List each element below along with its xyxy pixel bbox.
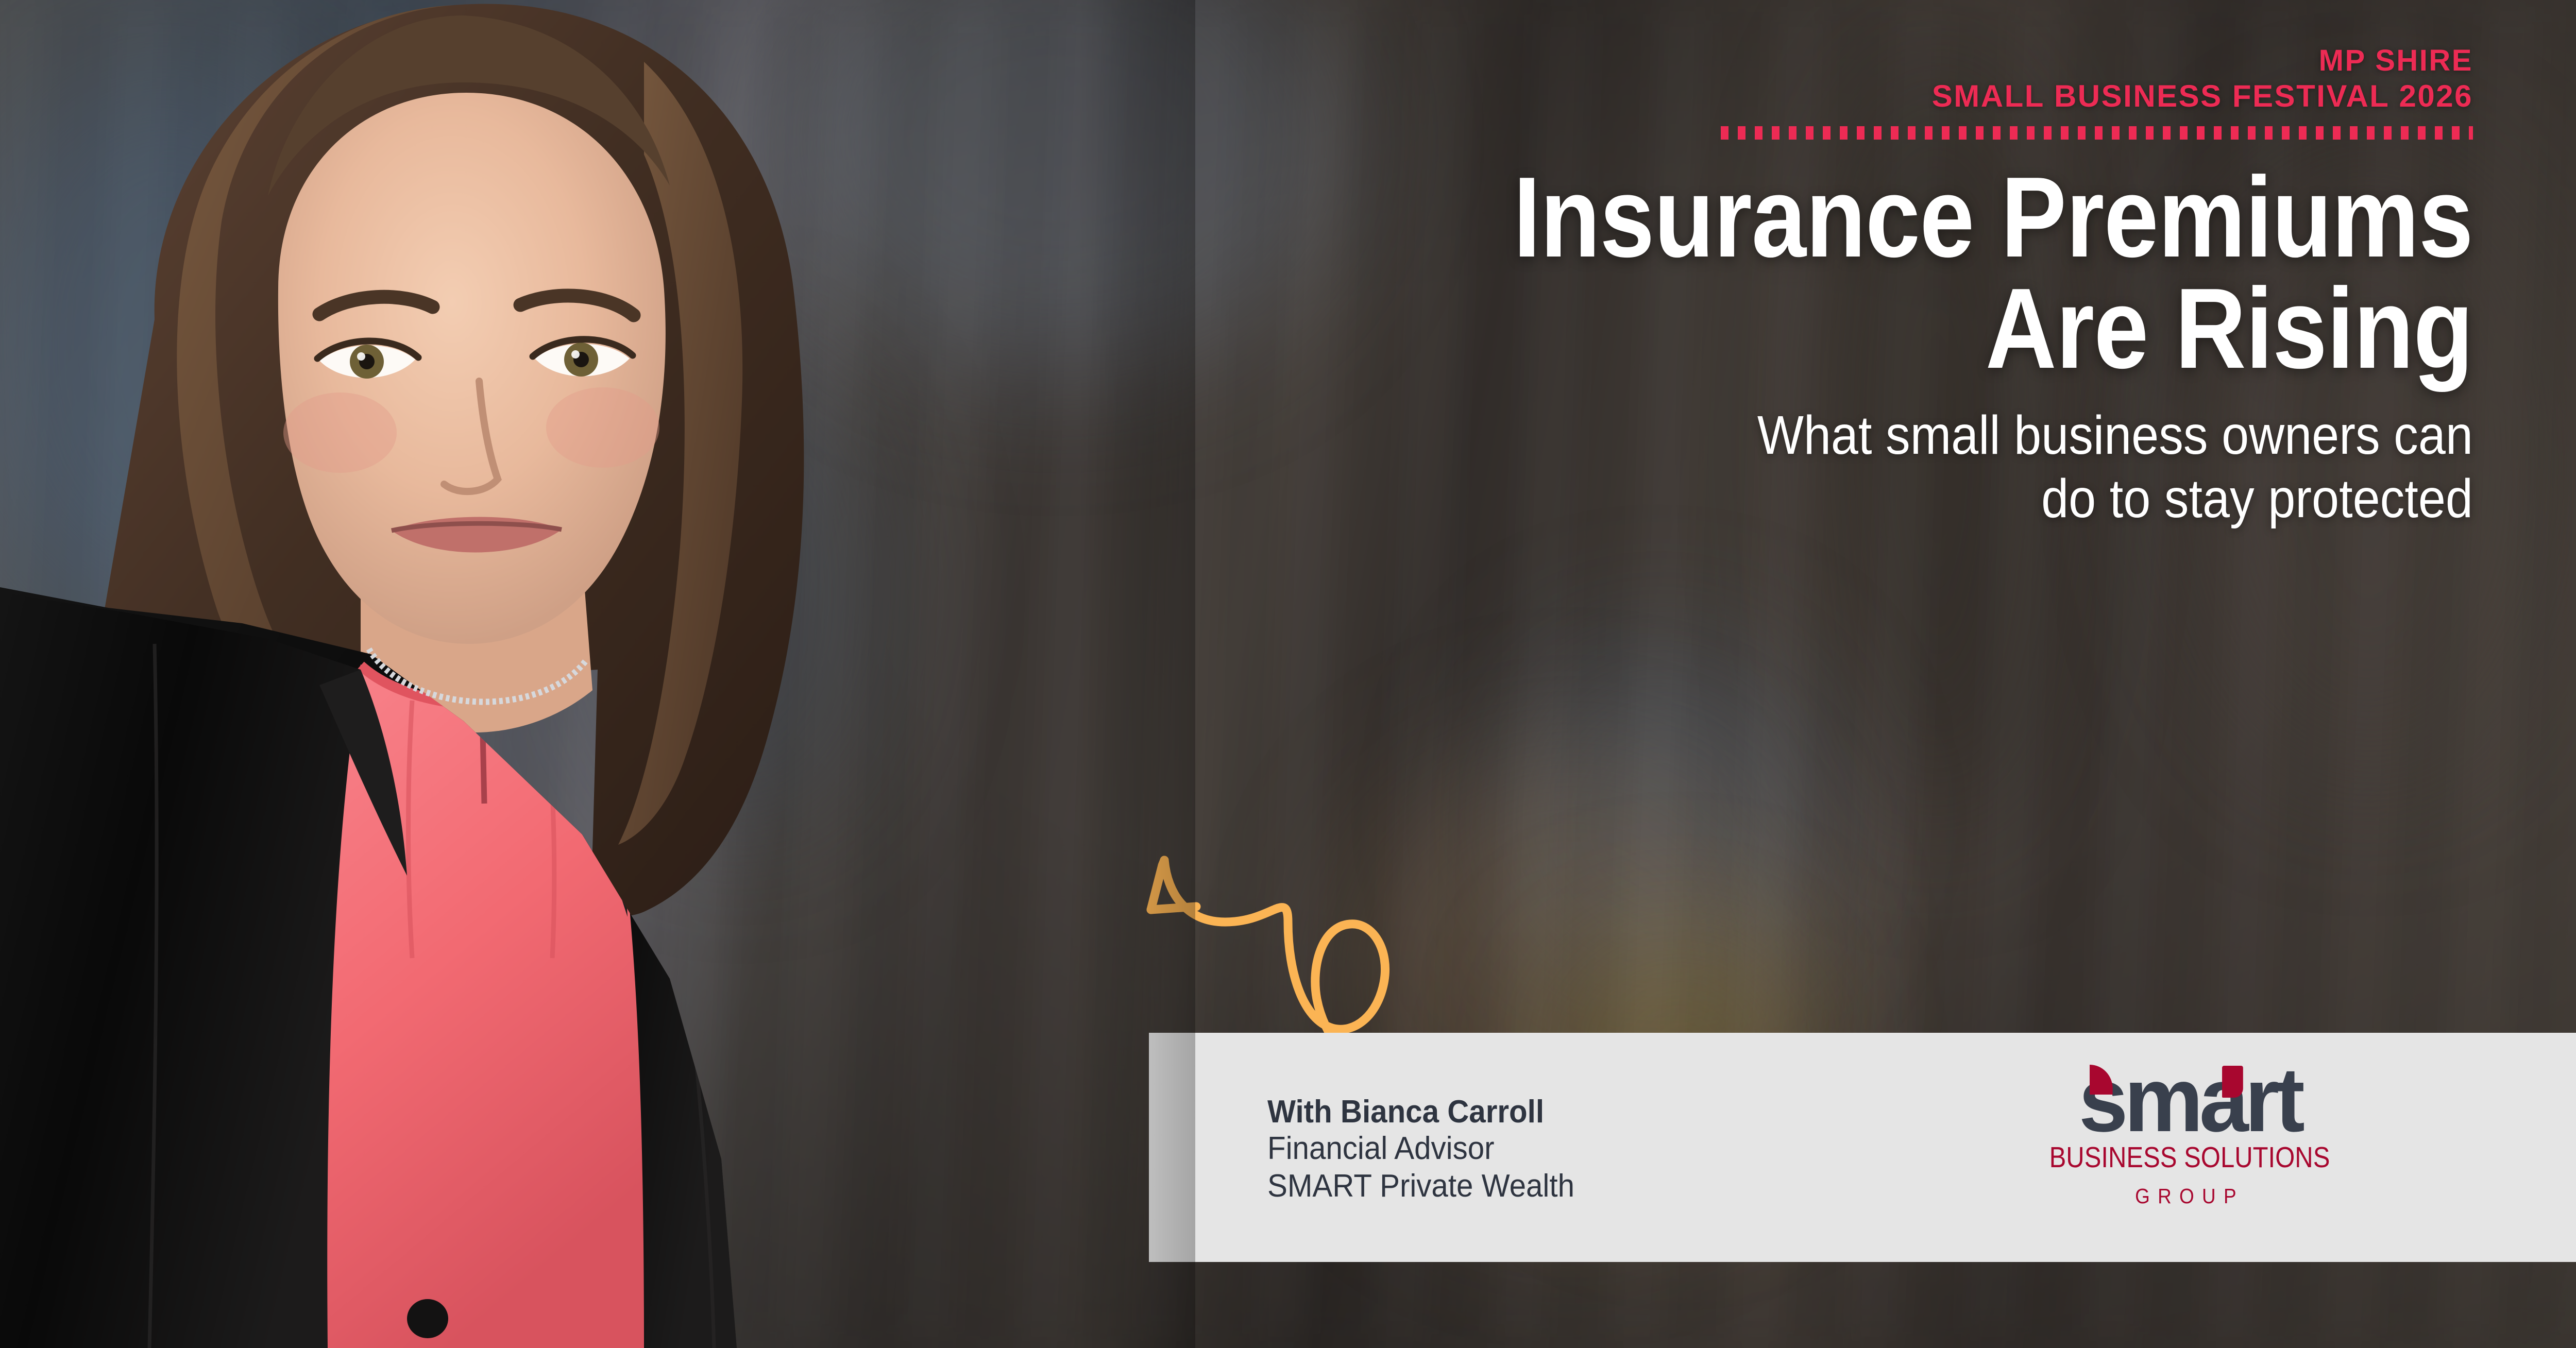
subheadline: What small business owners can do to sta… bbox=[1082, 404, 2473, 531]
portrait-edge-blend bbox=[608, 0, 1195, 1348]
speaker-name: With Bianca Carroll bbox=[1267, 1095, 1574, 1130]
headline-line2: Are Rising bbox=[1144, 274, 2473, 384]
logo-accent-wedge-r-icon bbox=[2222, 1066, 2243, 1098]
blazer-button bbox=[407, 1299, 448, 1338]
subheadline-line2: do to stay protected bbox=[1082, 467, 2473, 531]
promotional-banner: MP SHIRE SMALL BUSINESS FESTIVAL 2026 In… bbox=[0, 0, 2576, 1348]
blazer-left-panel bbox=[0, 592, 361, 1348]
speaker-credit: With Bianca Carroll Financial Advisor SM… bbox=[1267, 1095, 1594, 1205]
speaker-role: Financial Advisor bbox=[1267, 1130, 1574, 1167]
cheek-left bbox=[283, 393, 397, 473]
dotted-divider bbox=[1721, 126, 2473, 140]
headline-line1: Insurance Premiums bbox=[1144, 162, 2473, 273]
smart-business-solutions-logo: smart BUSINESS SOLUTIONS GROUP bbox=[2009, 1059, 2370, 1207]
logo-wordmark: smart bbox=[2078, 1059, 2300, 1141]
headline: Insurance Premiums Are Rising bbox=[1144, 162, 2473, 384]
speaker-firm: SMART Private Wealth bbox=[1267, 1167, 1574, 1205]
logo-subtitle: BUSINESS SOLUTIONS bbox=[2035, 1143, 2345, 1172]
logo-wordmark-text: smart bbox=[2078, 1048, 2300, 1151]
speaker-portrait bbox=[0, 0, 1195, 1348]
logo-group-label: GROUP bbox=[2027, 1186, 2352, 1207]
subheadline-line1: What small business owners can bbox=[1082, 404, 2473, 467]
